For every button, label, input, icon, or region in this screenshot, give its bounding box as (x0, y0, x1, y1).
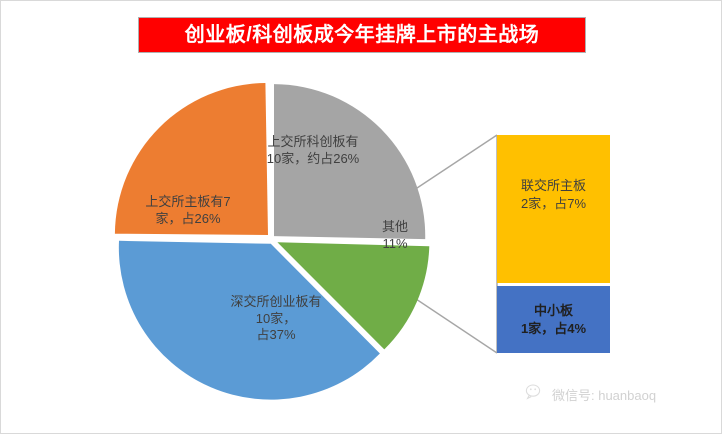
pie-label-chuangye: 深交所创业板有 10家， 占37% (191, 294, 361, 344)
wechat-icon (525, 383, 545, 406)
callout-box-sme[interactable]: 中小板 1家，占4% (497, 286, 610, 353)
callout-label-hk: 联交所主板 2家，占7% (521, 177, 586, 212)
callout-label-sme: 中小板 1家，占4% (521, 302, 586, 337)
pie-chart (1, 1, 722, 434)
leader-line-top (411, 135, 497, 192)
pie-label-qita: 其他 11% (359, 219, 431, 252)
pie-label-zhuban: 上交所主板有7 家，占26% (113, 194, 263, 227)
pie-label-kechuang: 上交所科创板有 10家，约占26% (233, 134, 393, 167)
watermark: 微信号: huanbaoq (525, 383, 656, 406)
leader-line-bottom (413, 297, 497, 353)
watermark-text: 微信号: huanbaoq (552, 385, 656, 404)
callout-box-hk[interactable]: 联交所主板 2家，占7% (497, 135, 610, 283)
chart-canvas: 创业板/科创板成今年挂牌上市的主战场 上交所科创板有 10家，约占26% 其他 … (0, 0, 722, 434)
